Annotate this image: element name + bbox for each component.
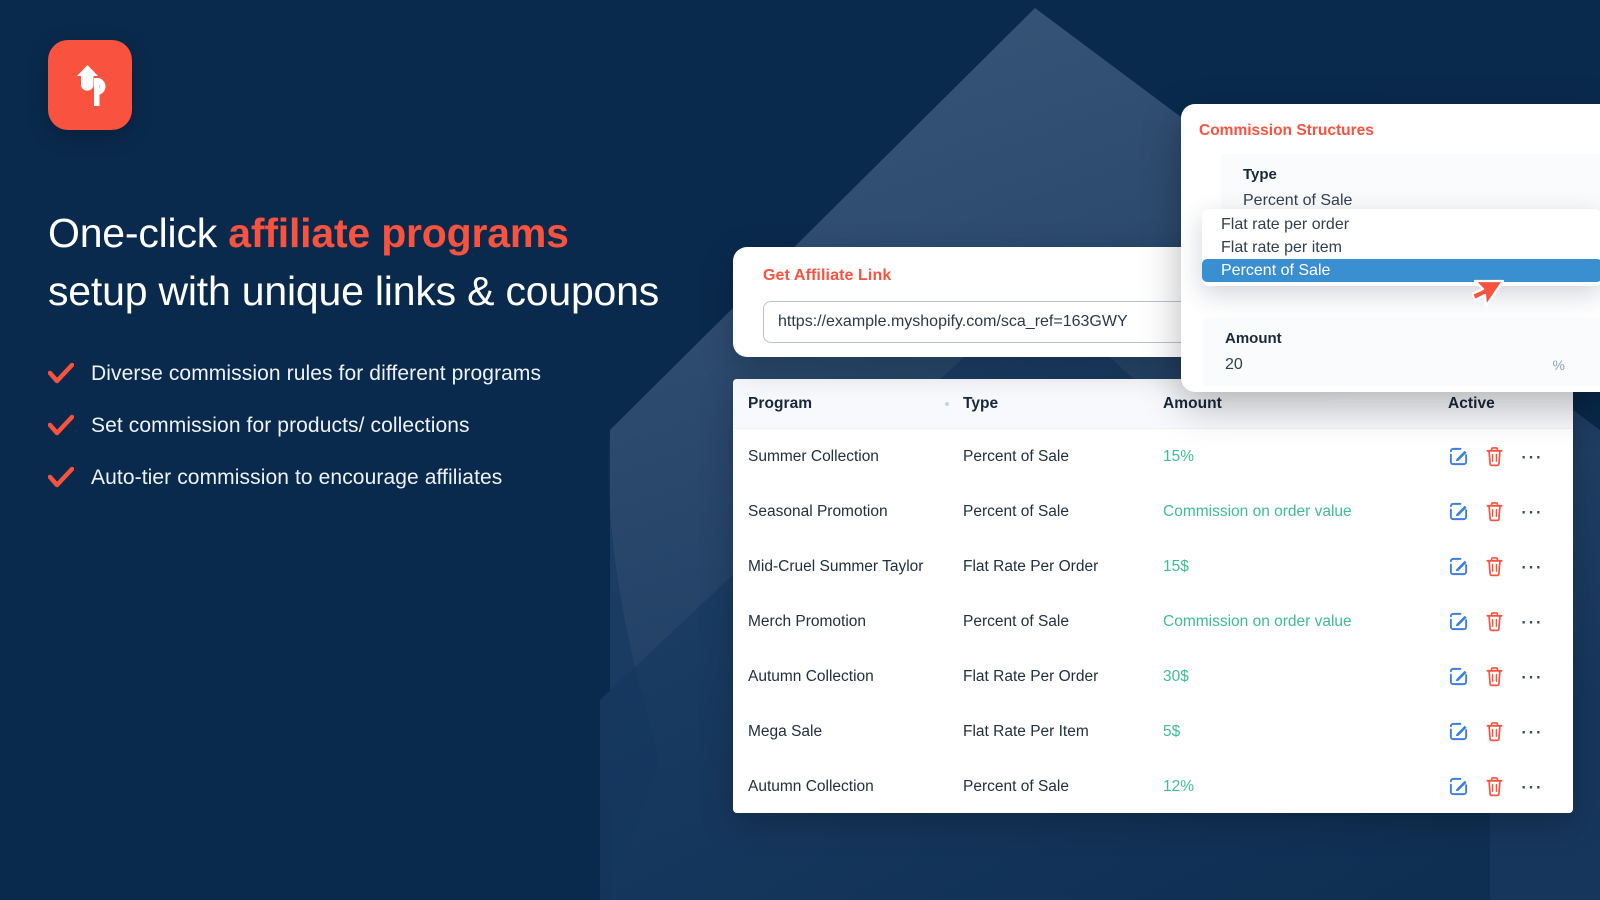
cell-program: Autumn Collection: [748, 778, 963, 796]
trash-icon[interactable]: [1485, 776, 1504, 797]
feature-item: Set commission for products/ collections: [48, 414, 748, 438]
amount-unit-label: %: [1553, 357, 1565, 373]
column-header-type[interactable]: Type: [963, 395, 1163, 413]
cell-actions: ⋯: [1448, 611, 1568, 632]
cell-actions: ⋯: [1448, 666, 1568, 687]
type-select-dropdown[interactable]: Flat rate per order Flat rate per item P…: [1202, 209, 1600, 286]
app-logo: [48, 40, 132, 130]
more-horizontal-icon[interactable]: ⋯: [1520, 727, 1544, 737]
type-field-label: Type: [1243, 166, 1600, 183]
more-horizontal-icon[interactable]: ⋯: [1520, 562, 1544, 572]
cell-type: Flat Rate Per Item: [963, 723, 1163, 741]
type-field-value[interactable]: Percent of Sale: [1243, 192, 1600, 210]
cell-type: Flat Rate Per Order: [963, 558, 1163, 576]
amount-field-value[interactable]: 20: [1225, 356, 1243, 374]
more-horizontal-icon[interactable]: ⋯: [1520, 452, 1544, 462]
edit-pencil-icon[interactable]: [1448, 501, 1469, 522]
cell-actions: ⋯: [1448, 721, 1568, 742]
cell-type: Percent of Sale: [963, 448, 1163, 466]
trash-icon[interactable]: [1485, 556, 1504, 577]
check-icon: [48, 415, 74, 437]
cell-type: Percent of Sale: [963, 503, 1163, 521]
select-option-flat-rate-per-order[interactable]: Flat rate per order: [1202, 213, 1600, 236]
page-headline: One-click affiliate programs setup with …: [48, 204, 748, 320]
cell-amount: 30$: [1163, 668, 1448, 686]
cell-actions: ⋯: [1448, 446, 1568, 467]
table-row[interactable]: Autumn CollectionPercent of Sale12%⋯: [733, 759, 1573, 813]
check-icon: [48, 363, 74, 385]
table-row[interactable]: Seasonal PromotionPercent of SaleCommiss…: [733, 484, 1573, 539]
cell-program: Seasonal Promotion: [748, 503, 963, 521]
edit-pencil-icon[interactable]: [1448, 556, 1469, 577]
cell-actions: ⋯: [1448, 556, 1568, 577]
cell-amount: Commission on order value: [1163, 503, 1448, 521]
headline-line-2: setup with unique links & coupons: [48, 262, 748, 320]
feature-label: Set commission for products/ collections: [91, 414, 470, 438]
cell-actions: ⋯: [1448, 776, 1568, 797]
cell-amount: 5$: [1163, 723, 1448, 741]
cell-program: Summer Collection: [748, 448, 963, 466]
cell-type: Percent of Sale: [963, 778, 1163, 796]
headline-plain-part: One-click: [48, 210, 228, 256]
feature-item: Diverse commission rules for different p…: [48, 362, 748, 386]
table-row[interactable]: Merch PromotionPercent of SaleCommission…: [733, 594, 1573, 649]
column-sort-dot-icon: [945, 402, 949, 406]
table-row[interactable]: Autumn CollectionFlat Rate Per Order30$⋯: [733, 649, 1573, 704]
column-header-program[interactable]: Program: [748, 395, 963, 413]
edit-pencil-icon[interactable]: [1448, 721, 1469, 742]
table-row[interactable]: Summer CollectionPercent of Sale15%⋯: [733, 429, 1573, 484]
select-option-flat-rate-per-item[interactable]: Flat rate per item: [1202, 236, 1600, 259]
trash-icon[interactable]: [1485, 721, 1504, 742]
cell-type: Flat Rate Per Order: [963, 668, 1163, 686]
amount-field-label: Amount: [1225, 330, 1600, 347]
check-icon: [48, 467, 74, 489]
edit-pencil-icon[interactable]: [1448, 446, 1469, 467]
column-header-amount[interactable]: Amount: [1163, 395, 1448, 413]
programs-table-card: Program Type Amount Active Summer Collec…: [733, 379, 1573, 813]
more-horizontal-icon[interactable]: ⋯: [1520, 507, 1544, 517]
cell-program: Mid-Cruel Summer Taylor: [748, 558, 963, 576]
trash-icon[interactable]: [1485, 501, 1504, 522]
feature-label: Diverse commission rules for different p…: [91, 362, 541, 386]
column-header-active[interactable]: Active: [1448, 395, 1568, 413]
cell-amount: 15%: [1163, 448, 1448, 466]
cell-amount: 15$: [1163, 558, 1448, 576]
trash-icon[interactable]: [1485, 446, 1504, 467]
cell-amount: Commission on order value: [1163, 613, 1448, 631]
edit-pencil-icon[interactable]: [1448, 666, 1469, 687]
cell-program: Mega Sale: [748, 723, 963, 741]
hero-section: One-click affiliate programs setup with …: [48, 40, 748, 518]
cell-program: Merch Promotion: [748, 613, 963, 631]
select-option-percent-of-sale[interactable]: Percent of Sale: [1202, 259, 1600, 282]
more-horizontal-icon[interactable]: ⋯: [1520, 672, 1544, 682]
table-body: Summer CollectionPercent of Sale15%⋯Seas…: [733, 429, 1573, 813]
feature-label: Auto-tier commission to encourage affili…: [91, 466, 502, 490]
table-row[interactable]: Mid-Cruel Summer TaylorFlat Rate Per Ord…: [733, 539, 1573, 594]
column-header-type-label: Type: [963, 395, 998, 412]
trash-icon[interactable]: [1485, 666, 1504, 687]
cell-actions: ⋯: [1448, 501, 1568, 522]
more-horizontal-icon[interactable]: ⋯: [1520, 617, 1544, 627]
edit-pencil-icon[interactable]: [1448, 611, 1469, 632]
trash-icon[interactable]: [1485, 611, 1504, 632]
more-horizontal-icon[interactable]: ⋯: [1520, 782, 1544, 792]
feature-list: Diverse commission rules for different p…: [48, 362, 748, 490]
table-row[interactable]: Mega SaleFlat Rate Per Item5$⋯: [733, 704, 1573, 759]
edit-pencil-icon[interactable]: [1448, 776, 1469, 797]
cell-type: Percent of Sale: [963, 613, 1163, 631]
up-monogram-logo-icon: [67, 59, 113, 111]
cell-amount: 12%: [1163, 778, 1448, 796]
cell-program: Autumn Collection: [748, 668, 963, 686]
commission-panel-title: Commission Structures: [1199, 122, 1600, 140]
amount-field-block: Amount 20 %: [1203, 318, 1600, 386]
feature-item: Auto-tier commission to encourage affili…: [48, 466, 748, 490]
headline-accent-part: affiliate programs: [228, 210, 568, 256]
